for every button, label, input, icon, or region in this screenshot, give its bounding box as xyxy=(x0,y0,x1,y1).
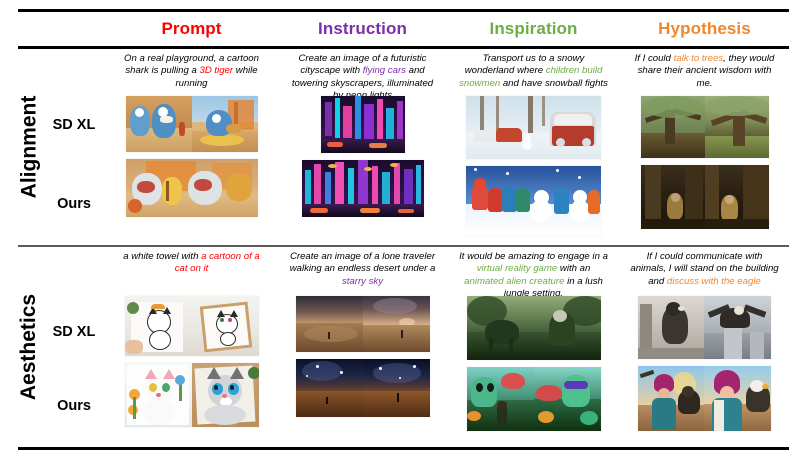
image-aesthetics-ours-3 xyxy=(638,366,771,431)
prompt-text-aesthetics-2: It would be amazing to engage in a virtu… xyxy=(448,248,619,301)
prompt-segment-3: animated alien creature xyxy=(464,276,564,287)
prompt-segment-0: Create an image of a lone traveler walki… xyxy=(290,251,436,274)
row-label-aesthetics-ours: Ours xyxy=(42,398,106,414)
image-alignment-ours-3 xyxy=(641,165,769,229)
prompt-text-alignment-2: Transport us to a snowy wonderland where… xyxy=(448,50,619,90)
cell-aesthetics-inspiration: It would be amazing to engage in a virtu… xyxy=(448,248,619,446)
image-alignment-sdxl-3 xyxy=(641,96,769,158)
prompt-text-aesthetics-3: If I could communicate with animals, I w… xyxy=(619,248,790,288)
image-alignment-ours-2 xyxy=(466,166,601,236)
image-aesthetics-ours-1 xyxy=(296,359,430,417)
section-label-alignment: Alignment xyxy=(0,50,58,244)
prompt-segment-2: and have snowball fights xyxy=(500,78,608,89)
thumb-stack-alignment-3 xyxy=(619,96,790,229)
image-alignment-sdxl-0 xyxy=(126,96,258,152)
thumb-stack-aesthetics-0 xyxy=(106,296,277,427)
cell-alignment-hypothesis: If I could talk to trees, they would sha… xyxy=(619,50,790,245)
section-label-aesthetics-text: Aesthetics xyxy=(17,294,41,400)
prompt-segment-1: virtual reality game xyxy=(477,263,558,274)
prompt-text-alignment-1: Create an image of a futuristic cityscap… xyxy=(277,50,448,103)
prompt-segment-1: flying cars xyxy=(363,65,406,76)
image-alignment-ours-1 xyxy=(302,160,424,217)
prompt-segment-0: a white towel with xyxy=(123,251,201,262)
prompt-segment-0: If I could xyxy=(635,53,674,64)
cell-alignment-inspiration: Transport us to a snowy wonderland where… xyxy=(448,50,619,245)
comparison-figure: Prompt Instruction Inspiration Hypothesi… xyxy=(0,0,800,459)
prompt-segment-1: 3D tiger xyxy=(200,65,234,76)
thumb-stack-aesthetics-3 xyxy=(619,296,790,431)
prompt-text-aesthetics-1: Create an image of a lone traveler walki… xyxy=(277,248,448,288)
image-aesthetics-sdxl-0 xyxy=(125,296,259,356)
prompt-segment-2: with an xyxy=(557,263,590,274)
prompt-text-alignment-3: If I could talk to trees, they would sha… xyxy=(619,50,790,90)
thumb-stack-alignment-0 xyxy=(106,96,277,217)
section-aesthetics: a white towel with a cartoon of a cat on… xyxy=(106,248,790,446)
prompt-segment-1: starry sky xyxy=(342,276,383,287)
cell-alignment-instruction: Create an image of a futuristic cityscap… xyxy=(277,50,448,245)
image-aesthetics-ours-2 xyxy=(467,367,601,431)
image-alignment-sdxl-1 xyxy=(321,96,405,153)
image-aesthetics-sdxl-2 xyxy=(467,296,601,360)
image-aesthetics-ours-0 xyxy=(125,363,259,427)
thumb-stack-aesthetics-2 xyxy=(448,296,619,431)
row-label-alignment-ours: Ours xyxy=(42,196,106,212)
prompt-segment-1: discuss with the eagle xyxy=(667,276,761,287)
cell-aesthetics-instruction: Create an image of a lone traveler walki… xyxy=(277,248,448,446)
section-label-aesthetics: Aesthetics xyxy=(0,248,58,446)
row-label-aesthetics-sdxl: SD XL xyxy=(42,324,106,340)
image-alignment-ours-0 xyxy=(126,159,258,217)
column-header-inspiration: Inspiration xyxy=(448,14,619,44)
row-label-alignment-sdxl: SD XL xyxy=(42,117,106,133)
prompt-text-alignment-0: On a real playground, a cartoon shark is… xyxy=(106,50,277,90)
thumb-stack-alignment-1 xyxy=(277,96,448,217)
prompt-segment-0: It would be amazing to engage in a xyxy=(459,251,608,262)
prompt-text-aesthetics-0: a white towel with a cartoon of a cat on… xyxy=(106,248,277,276)
divider-header xyxy=(18,46,789,49)
image-aesthetics-sdxl-3 xyxy=(638,296,771,359)
image-aesthetics-sdxl-1 xyxy=(296,296,430,352)
divider-sections xyxy=(18,245,789,247)
cell-alignment-prompt: On a real playground, a cartoon shark is… xyxy=(106,50,277,245)
divider-bottom xyxy=(18,447,789,450)
column-header-row: Prompt Instruction Inspiration Hypothesi… xyxy=(106,14,790,44)
image-alignment-sdxl-2 xyxy=(466,96,601,159)
column-header-prompt: Prompt xyxy=(106,14,277,44)
cell-aesthetics-hypothesis: If I could communicate with animals, I w… xyxy=(619,248,790,446)
thumb-stack-alignment-2 xyxy=(448,96,619,236)
thumb-stack-aesthetics-1 xyxy=(277,296,448,417)
column-header-instruction: Instruction xyxy=(277,14,448,44)
column-header-hypothesis: Hypothesis xyxy=(619,14,790,44)
cell-aesthetics-prompt: a white towel with a cartoon of a cat on… xyxy=(106,248,277,446)
section-alignment: On a real playground, a cartoon shark is… xyxy=(106,50,790,245)
section-label-alignment-text: Alignment xyxy=(17,96,41,199)
prompt-segment-1: talk to trees xyxy=(674,53,724,64)
divider-top xyxy=(18,9,789,12)
